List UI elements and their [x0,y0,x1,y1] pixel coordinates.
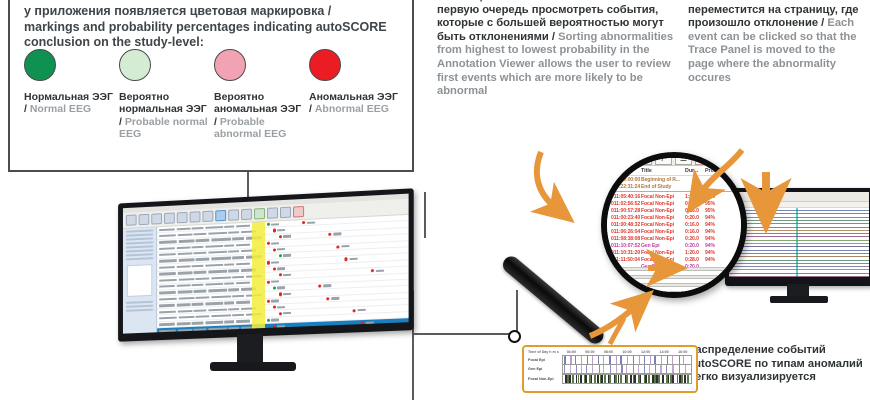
probability-cell [376,269,384,272]
annotation-probability [705,184,729,190]
eeg-channel-trace [729,269,869,270]
distribution-event-tick [609,356,610,364]
table-cell [224,282,234,285]
status-dot [272,267,275,270]
status-dot [266,242,269,245]
distribution-event-tick [684,375,686,383]
status-dot [278,254,281,257]
copy-distribution-ru: Распределение событий autoSCORE по типам… [688,344,863,383]
status-dot [278,293,281,296]
table-cell [159,272,176,275]
table-cell [228,269,239,272]
distribution-event-tick [597,375,599,383]
distribution-event-tick [681,375,683,383]
probability-cell [271,280,279,283]
toolbar-icon-report[interactable] [267,207,278,219]
annotation-time: 011:00:48:32 [611,222,641,228]
eeg-channel-trace [729,273,869,274]
table-cell [159,259,177,262]
monitor-right-base [770,296,828,303]
table-cell [196,258,210,261]
monitor-left-neck [237,333,263,364]
eeg-channel-trace [729,223,869,224]
status-dot [278,235,281,238]
annotation-probability: 94% [705,215,729,221]
monitor-left-base [210,362,296,371]
table-cell [176,246,190,249]
table-cell [228,288,239,291]
table-cell [232,276,244,279]
sidebar-line [126,237,153,240]
annotation-probability: 94% [705,236,729,242]
sidebar-line [126,241,153,244]
probability-cell [341,245,349,248]
table-cell [159,298,177,301]
toolbar-icon-list[interactable] [190,211,201,222]
cell-spacer [293,234,327,236]
status-dot [318,284,321,287]
annotation-title: Focal Non-Epi [641,250,685,256]
distribution-event-tick [604,375,606,383]
distribution-track-focal-epi[interactable] [562,355,692,365]
table-cell [177,271,192,274]
legend-label-normal-en: Normal EEG [30,103,91,115]
annotation-title: Focal Non-Epi [641,222,685,228]
annotation-time: 011:10:31:20 [611,250,641,256]
status-dot [266,280,269,283]
patient-study-grid[interactable] [157,215,408,334]
app-body [123,215,409,334]
strip-row [607,286,741,292]
distribution-track-focal-non-epi[interactable] [562,374,692,384]
probability-cell [358,309,366,312]
distribution-event-tick [662,375,664,383]
status-dot [266,300,269,303]
annotation-row[interactable]: 011:00:23:40Focal Non-Epi0:20.094% [601,214,747,221]
table-cell [159,323,175,326]
probability-cell [333,233,341,236]
distribution-event-tick [592,356,593,364]
annotation-viewer: ← → ↱ ☰ 🗑 Time Title Dur... Probability … [601,152,747,298]
legend-label-probable-abnormal-en: Probable abnormal EEG [214,116,286,140]
distribution-event-tick [599,365,600,373]
distribution-event-tick [594,375,596,383]
table-cell [194,309,207,312]
status-dot [266,319,269,322]
cell-spacer [287,247,335,249]
toolbar-icon-delete[interactable] [293,206,304,218]
status-dot [371,269,374,272]
toolbar-icon-open[interactable] [139,214,150,225]
legend-label-abnormal: Аномальная ЭЭГ / Abnormal EEG [309,91,401,116]
distribution-event-tick [591,375,593,383]
distribution-event-tick [575,356,576,364]
status-dot [278,273,281,276]
annotation-time: 011:11:50:04 [611,257,641,263]
status-dot [345,258,348,261]
distribution-event-tick [570,356,571,364]
status-dot [326,297,329,300]
probability-cell [331,297,339,300]
monitor-left-bezel [118,188,414,341]
cell-spacer [287,323,360,326]
magnifier: ← → ↱ ☰ 🗑 Time Title Dur... Probability … [506,148,696,338]
cell-spacer [263,294,277,295]
toolbar-icon-patient[interactable] [177,212,188,223]
distribution-tick: 14:00 [655,350,674,354]
table-cell [194,271,207,274]
eeg-channel-trace [729,256,869,257]
distribution-event-tick [564,365,565,373]
eeg-channel-trace [729,217,869,218]
status-dot [272,248,275,251]
table-cell [236,263,250,266]
annotation-duration: 0:20.0 [685,215,705,221]
distribution-tick: 04:00 [562,350,581,354]
table-cell [205,321,223,324]
distribution-track-gen-epi[interactable] [562,364,692,374]
swatch-normal-icon [24,49,56,81]
sidebar-line [126,257,153,260]
distribution-event-tick [683,356,684,364]
distribution-event-tick [633,365,634,373]
distribution-event-tick [569,375,571,383]
distribution-tick: 12:00 [636,350,655,354]
annotation-probability: 96% [705,194,729,200]
table-cell [176,227,190,230]
annotation-title: Beginning of R... [641,177,685,183]
eeg-channel-trace [729,246,869,247]
table-cell [178,278,194,281]
annotation-row[interactable]: 011:08:38:08Focal Non-Epi0:20.094% [601,235,747,242]
distribution-event-tick [655,365,656,373]
probability-cell [271,261,279,264]
cell-spacer [263,256,277,257]
eeg-channel-trace [729,263,869,264]
cell-spacer [287,286,317,287]
eeg-channel-trace [729,240,869,241]
legend-item-probable-normal: Вероятно нормальная ЭЭГ / Probable norma… [119,49,214,141]
column-header-title: Title [641,168,685,174]
distribution-event-tick [620,356,621,364]
distribution-event-tick [648,375,650,383]
status-dot [272,229,275,232]
annotation-duration: 1:20.0 [685,250,705,256]
table-cell [176,322,190,325]
toolbar-icon-new[interactable] [126,214,137,225]
eeg-channel-trace [729,250,869,251]
sidebar-line [126,249,153,252]
distribution-tick: 10:00 [618,350,637,354]
status-dot [361,321,364,324]
annotation-row[interactable]: 011:00:57:28Focal Non-Epi0:16.095% [601,207,747,214]
distribution-event-tick [640,375,642,383]
probability-cell [277,267,285,270]
toolbar-icon-export[interactable] [241,209,252,221]
eeg-channel-trace [729,227,869,228]
annotation-table-body[interactable]: 011:00:00:00Beginning of R...011:22:31:2… [601,176,747,270]
table-cell [236,282,250,285]
annotation-duration [685,184,705,190]
table-cell [196,277,210,280]
swatch-probable-abnormal-icon [214,49,246,81]
sidebar-line [126,233,153,236]
table-cell [196,296,210,299]
table-cell [159,228,175,231]
distribution-event-tick [661,356,662,364]
distribution-event-tick [572,375,574,383]
table-cell [192,246,204,249]
annotation-duration: 0:16.0 [685,229,705,235]
distribution-event-tick [667,356,668,364]
legend-label-probable-abnormal: Вероятно аномальная ЭЭГ / Probable abnor… [214,91,306,141]
annotation-title: Focal Non-Epi [641,194,685,200]
table-cell [177,310,192,313]
annotation-time: 011:10:07:52 [611,243,641,249]
toolbar-icon-save[interactable] [151,213,162,224]
annotation-table-header: Time Title Dur... Probability [601,166,747,176]
annotation-time: 011:02:56:52 [611,201,641,207]
probability-cell [323,284,331,287]
cell-spacer [293,311,352,313]
distribution-event-tick [626,375,628,383]
magnifier-lens: ← → ↱ ☰ 🗑 Time Title Dur... Probability … [601,152,747,298]
probability-cell [366,321,374,324]
table-cell [232,314,244,317]
cell-spacer [263,333,277,334]
status-dot [328,233,331,236]
copy-annotation-sorting: аннотаций позволяет пользователю в перву… [437,0,679,99]
column-header-time: Time [611,168,641,174]
distribution-event-tick [564,356,565,364]
status-dot [266,261,269,264]
table-cell [159,247,175,250]
annotation-duration: 1:04.0 [685,194,705,200]
table-cell [178,259,194,262]
distribution-event-tick [618,375,620,383]
cell-spacer [263,314,277,315]
table-cell [211,257,231,260]
legend-heading: у приложения появляется цветовая маркиро… [24,4,400,51]
toolbar-icon-review[interactable] [228,209,239,221]
table-cell [236,301,250,304]
table-cell [192,303,204,306]
toolbar-icon-print[interactable] [164,213,175,224]
status-dot [337,245,340,248]
sort-annotation-icon[interactable]: ☰ [675,152,692,165]
table-cell [176,265,190,268]
toolbar-icon-approve[interactable] [254,208,265,220]
annotation-row[interactable]: 011:10:31:20Focal Non-Epi1:20.094% [601,249,747,256]
annotation-time: 011:00:00:00 [611,177,641,183]
sidebar-line [126,305,153,308]
distribution-row-label: Focal Non-Epi [528,377,562,381]
distribution-event-tick [679,365,680,373]
table-cell [211,314,231,317]
monitor-left [116,196,430,400]
eeg-channel-trace [729,276,869,277]
annotation-title: Focal Non-Epi [641,257,685,263]
annotation-probability: 94% [705,257,729,263]
table-cell [224,244,234,247]
annotation-row[interactable]: 011:22:31:24End of Study [601,183,747,190]
distribution-event-tick [633,356,634,364]
toolbar-icon-settings[interactable] [280,207,291,219]
distribution-tick: 08:00 [599,350,618,354]
table-row[interactable] [157,331,408,333]
annotation-duration: 0:28.0 [685,201,705,207]
annotation-title: Focal Non-Epi [641,236,685,242]
legend-label-probable-normal: Вероятно нормальная ЭЭГ / Probable norma… [119,91,211,141]
legend-heading-text: markings and probability percentages ind… [24,20,387,50]
table-cell [177,291,192,294]
next-annotation-icon[interactable]: → [635,152,652,165]
annotation-separator [609,191,741,192]
monitor-right-bezel [725,188,870,286]
table-cell [159,304,175,307]
annotation-probability: 95% [705,201,729,207]
annotation-title: Focal Non-Epi [641,215,685,221]
copy-trace-panel: панель отслеживания переместится на стра… [688,0,864,85]
table-cell [159,285,175,288]
distribution-header: Time of Day h m s 04:00 06:00 08:00 10:0… [528,350,692,354]
distribution-event-tick [626,365,627,373]
table-cell [224,225,234,228]
annotation-probability: 95% [705,208,729,214]
app-sidebar[interactable] [123,227,157,333]
probability-cell [283,312,291,315]
annotation-probability: 94% [705,222,729,228]
distribution-event-tick [609,375,611,383]
sidebar-preview-pane [127,264,152,297]
table-cell [194,328,207,331]
monitor-left-screen [123,194,409,334]
table-cell [192,322,204,325]
eeg-channel-trace [729,230,869,231]
table-cell [192,284,204,287]
column-highlight-yellow [252,222,265,334]
annotation-probability: 94% [705,229,729,235]
table-cell [211,238,231,241]
probability-cell [271,242,279,245]
table-cell [192,265,204,268]
distribution-row: Focal Epi [528,356,692,364]
probability-cell [349,258,357,261]
annotation-title: Focal Non-Epi [641,208,685,214]
annotation-row[interactable]: 011:00:48:32Focal Non-Epi0:16.094% [601,221,747,228]
table-cell [196,239,210,242]
eeg-channel-trace [729,233,869,234]
annotation-duration: 0:16.0 [685,208,705,214]
strip-row [607,270,741,276]
column-header-duration: Dur... [685,168,705,174]
cell-spacer [263,237,277,238]
legend-item-abnormal: Аномальная ЭЭГ / Abnormal EEG [309,49,404,141]
table-cell [159,310,176,313]
distribution-event-tick [620,375,622,383]
status-dot [266,223,269,226]
distribution-event-tick [679,356,680,364]
distribution-tick: 06:00 [581,350,600,354]
distribution-event-tick [616,356,617,364]
sidebar-line [126,229,153,232]
distribution-event-tick [627,356,628,364]
table-cell [211,276,231,279]
table-cell [236,320,250,323]
distribution-event-tick [654,356,655,364]
annotation-row[interactable]: 011:06:26:04Focal Non-Epi0:16.094% [601,228,747,235]
annotation-time: 011:00:23:40 [611,215,641,221]
legend-label-abnormal-en: Abnormal EEG [315,103,389,115]
table-cell [159,234,176,237]
annotation-title: Focal Non-Epi [641,229,685,235]
annotation-row[interactable]: 011:10:07:52Gen Epi0:20.094% [601,242,747,249]
table-cell [196,315,210,318]
probability-cell [277,325,285,328]
table-cell [208,251,227,254]
distribution-row-label: Gen Epi [528,367,562,371]
table-cell [205,302,223,305]
distribution-event-tick [649,365,650,373]
probability-cell [283,235,291,238]
status-dot [272,286,275,289]
legend-items: Нормальная ЭЭГ / Normal EEG Вероятно нор… [24,49,404,141]
annotation-row[interactable]: 011:00:00:00Beginning of R... [601,176,747,183]
table-cell [232,295,244,298]
table-cell [194,252,207,255]
toolbar-icon-card[interactable] [202,211,213,222]
goto-annotation-icon[interactable]: ↱ [655,152,672,165]
monitor-right [725,188,870,308]
table-cell [208,289,227,292]
distribution-event-tick [578,375,580,383]
cell-spacer [293,271,370,274]
table-cell [177,233,192,236]
table-cell [205,264,223,267]
annotation-row[interactable]: 011:02:56:52Focal Non-Epi0:28.095% [601,200,747,207]
distribution-event-tick [570,365,571,373]
probability-cell [271,223,279,226]
table-cell [208,270,227,273]
distribution-event-tick [603,356,604,364]
swatch-abnormal-icon [309,49,341,81]
eeg-trace-panel[interactable] [729,208,869,277]
probability-cell [307,221,315,224]
prev-annotation-icon[interactable]: ← [615,152,632,165]
cell-spacer [263,275,277,276]
eeg-channel-trace [729,243,869,244]
table-cell [232,256,244,259]
table-cell [228,327,239,330]
table-cell [228,250,239,253]
table-cell [208,308,227,311]
probability-cell [271,319,279,322]
toolbar-icon-search[interactable] [215,210,226,222]
swatch-probable-normal-icon [119,49,151,81]
annotation-row[interactable]: 011:05:40:16Focal Non-Epi1:04.096% [601,193,747,200]
delete-annotation-icon[interactable]: 🗑 [695,152,712,165]
table-cell [208,327,227,330]
distribution-row: Gen Epi [528,365,692,373]
distribution-event-tick [587,356,588,364]
distribution-event-tick [603,365,604,373]
legend-item-probable-abnormal: Вероятно аномальная ЭЭГ / Probable abnor… [214,49,309,141]
annotation-title: Gen Epi [641,243,685,249]
annotation-row[interactable]: 011:11:50:04Focal Non-Epi0:28.094% [601,256,747,263]
magnifier-knob [508,330,521,343]
annotation-toolbar[interactable]: ← → ↱ ☰ 🗑 [601,152,747,166]
distribution-event-tick [621,365,622,373]
